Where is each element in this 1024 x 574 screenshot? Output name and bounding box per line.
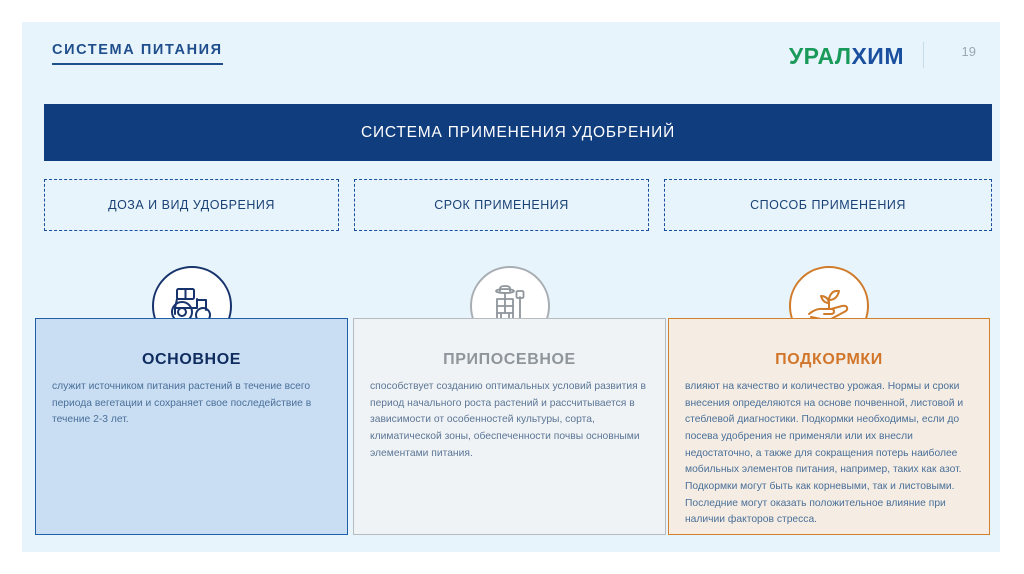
criteria-label: ДОЗА И ВИД УДОБРЕНИЯ [108,198,275,212]
card-description: влияют на качество и количество урожая. … [669,379,989,529]
card-title: ОСНОВНОЕ [36,351,347,369]
card-description: способствует созданию оптимальных услови… [354,379,665,462]
card-title: ПОДКОРМКИ [669,351,989,369]
criteria-box-timing[interactable]: СРОК ПРИМЕНЕНИЯ [354,179,649,231]
page-title: СИСТЕМА ПИТАНИЯ [52,42,223,65]
main-banner: СИСТЕМА ПРИМЕНЕНИЯ УДОБРЕНИЙ [44,104,992,161]
criteria-label: СПОСОБ ПРИМЕНЕНИЯ [750,198,906,212]
criteria-box-method[interactable]: СПОСОБ ПРИМЕНЕНИЯ [664,179,992,231]
uralchem-logo: УРАЛХИМ [789,43,904,70]
card-description: служит источником питания растений в теч… [36,379,347,429]
logo-text-him: ХИМ [851,43,904,69]
column-card-osnovnoe: ОСНОВНОЕ служит источником питания расте… [35,318,348,535]
page-number: 19 [962,44,976,59]
criteria-box-dose[interactable]: ДОЗА И ВИД УДОБРЕНИЯ [44,179,339,231]
slide: СИСТЕМА ПИТАНИЯ УРАЛХИМ 19 СИСТЕМА ПРИМЕ… [0,0,1024,574]
criteria-row: ДОЗА И ВИД УДОБРЕНИЯ СРОК ПРИМЕНЕНИЯ СПО… [44,179,992,231]
card-title: ПРИПОСЕВНОЕ [354,351,665,369]
logo-text-ural: УРАЛ [789,43,852,69]
column-card-podkormki: ПОДКОРМКИ влияют на качество и количеств… [668,318,990,535]
criteria-label: СРОК ПРИМЕНЕНИЯ [434,198,569,212]
column-card-priposevnoe: ПРИПОСЕВНОЕ способствует созданию оптима… [353,318,666,535]
logo-divider [923,42,924,68]
banner-title: СИСТЕМА ПРИМЕНЕНИЯ УДОБРЕНИЙ [361,124,675,142]
